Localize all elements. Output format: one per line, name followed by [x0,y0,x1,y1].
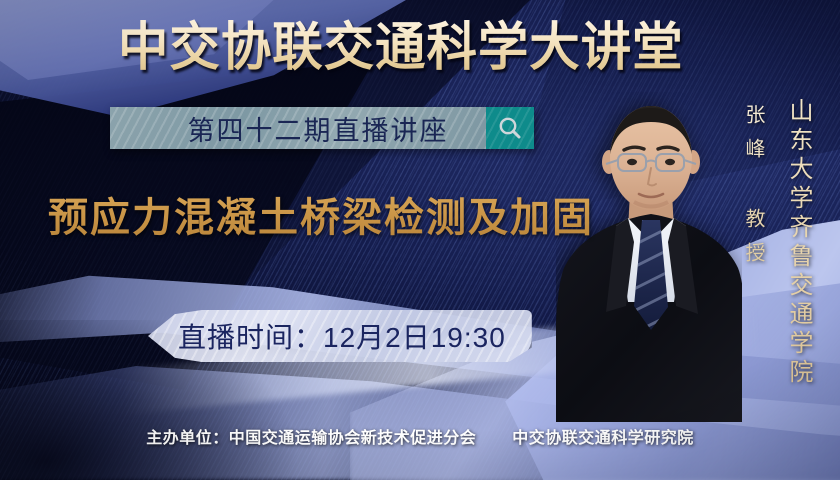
session-badge-fill: 第四十二期直播讲座 [110,107,486,149]
lecture-topic: 预应力混凝土桥梁检测及加固 [48,192,594,244]
page-title: 中交协联交通科学大讲堂 [118,18,684,78]
speaker-organization: 山东大学齐鲁交通学院 [781,98,816,388]
broadcast-time-text: 直播时间：12月2日19:30 [178,316,506,356]
session-label: 第四十二期直播讲座 [148,109,449,148]
speaker-name: 张峰 教授 [739,104,768,276]
session-badge: 第四十二期直播讲座 [110,107,534,149]
speaker-portrait [556,92,742,422]
search-button[interactable] [486,107,534,149]
organizer-footer: 主办单位：中国交通运输协会新技术促进分会 中交协联交通科学研究院 [0,424,840,448]
broadcast-time-badge: 直播时间：12月2日19:30 [148,310,532,362]
organizer-primary: 主办单位：中国交通运输协会新技术促进分会 [146,430,476,447]
search-icon [497,115,523,141]
live-lecture-poster: 山东大学齐鲁交通学院 张峰 教授 中交协联交通科学大讲堂 第四十二期直播讲座 预… [0,0,840,480]
organizer-secondary: 中交协联交通科学研究院 [512,430,694,447]
